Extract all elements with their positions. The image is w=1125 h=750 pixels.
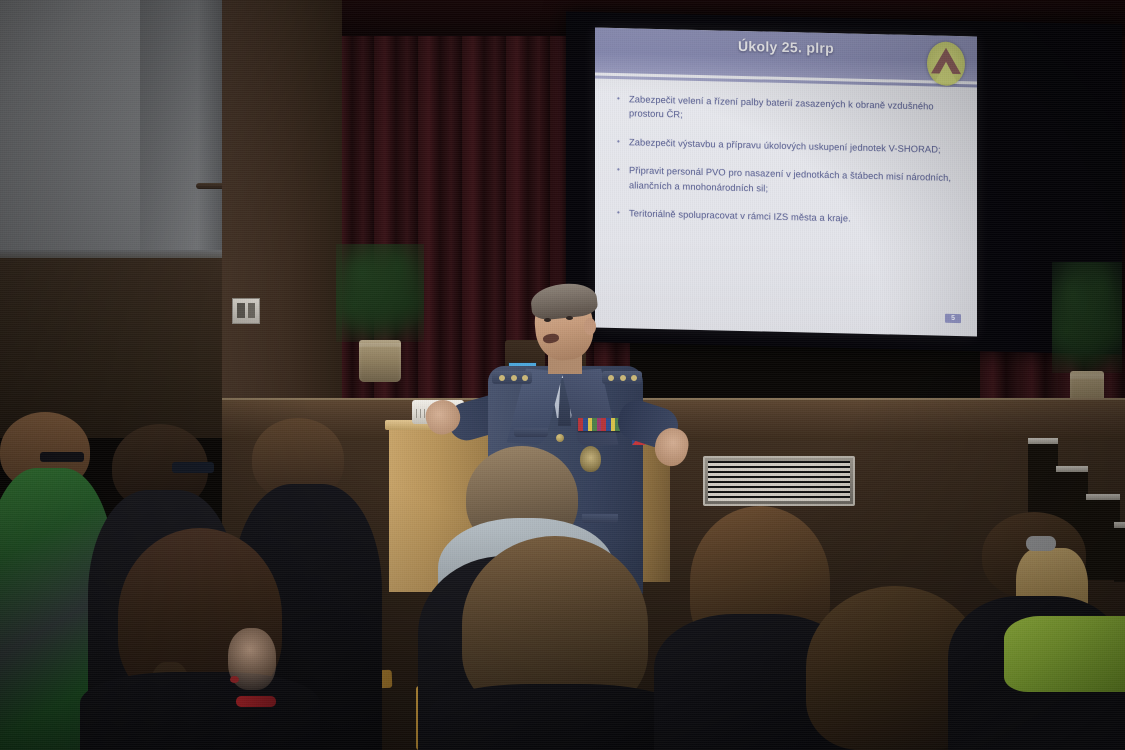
- bullet-marker-icon: •: [617, 206, 629, 221]
- wall-outlet-plate[interactable]: [232, 298, 260, 324]
- slide-bullet-text: Zabezpečit velení a řízení palby baterií…: [629, 92, 963, 129]
- slide-bullet-list: • Zabezpečit velení a řízení palby bater…: [617, 92, 963, 243]
- rank-star-icon: [522, 375, 528, 381]
- plant-foliage: [336, 244, 424, 342]
- bullet-marker-icon: •: [617, 135, 629, 150]
- officer-eye: [566, 316, 573, 320]
- auditorium-photo: Úkoly 25. plrp • Zabezpečit velení a říz…: [0, 0, 1125, 750]
- officer-ear: [584, 318, 596, 335]
- rank-star-icon: [620, 375, 626, 381]
- plant-pot: [359, 340, 401, 382]
- audience-jacket: [430, 684, 682, 750]
- plant-foliage: [1052, 262, 1122, 373]
- slide-bullet-text: Teritoriálně spolupracovat v rámci IZS m…: [629, 206, 963, 228]
- stair-nosing: [1056, 466, 1088, 472]
- bullet-marker-icon: •: [617, 92, 629, 121]
- slide-bullet-text: Připravit personál PVO pro nasazení v je…: [629, 164, 963, 201]
- slide-bullet-item: • Zabezpečit velení a řízení palby bater…: [617, 92, 963, 129]
- red-bracelet: [236, 696, 276, 707]
- slide-bullet-item: • Teritoriálně spolupracovat v rámci IZS…: [617, 206, 963, 229]
- stair-riser: [1114, 522, 1125, 582]
- rank-star-icon: [608, 375, 614, 381]
- uniform-pocket-flap: [582, 514, 618, 523]
- uniform-button: [556, 434, 564, 442]
- medal-ribbon-bar: [578, 418, 620, 431]
- hair-tie: [1026, 536, 1056, 551]
- chest-qualification-badge: [580, 446, 601, 472]
- audience-jacket: [80, 672, 320, 750]
- stair-nosing: [1114, 522, 1125, 528]
- slide-bullet-item: • Zabezpečit výstavbu a přípravu úkolový…: [617, 135, 963, 158]
- regiment-chevron-emblem-icon: [927, 41, 965, 86]
- potted-plant-right: [1052, 262, 1122, 420]
- uniform-pocket-flap: [514, 428, 548, 437]
- rank-star-icon: [631, 375, 637, 381]
- slide-bullet-item: • Připravit personál PVO pro nasazení v …: [617, 163, 963, 200]
- slide-page-number: 5: [945, 314, 961, 323]
- slide-bullet-text: Zabezpečit výstavbu a přípravu úkolových…: [629, 135, 963, 157]
- officer-epaulet-left: [492, 371, 532, 384]
- left-door[interactable]: [140, 0, 222, 262]
- officer-eye: [544, 318, 551, 322]
- nail-polish: [230, 676, 239, 683]
- left-wall-panelling: [0, 258, 222, 438]
- potted-plant-left: [336, 244, 424, 384]
- audience-green-collar: [1004, 616, 1125, 692]
- eyeglasses-icon: [172, 462, 214, 473]
- rank-star-icon: [511, 375, 517, 381]
- eyeglasses-icon: [40, 452, 84, 462]
- rank-star-icon: [499, 375, 505, 381]
- officer-epaulet-right: [602, 371, 642, 384]
- wall-ventilation-grille: [703, 456, 855, 506]
- stair-nosing: [1028, 438, 1058, 444]
- stair-nosing: [1086, 494, 1120, 500]
- bullet-marker-icon: •: [617, 163, 629, 192]
